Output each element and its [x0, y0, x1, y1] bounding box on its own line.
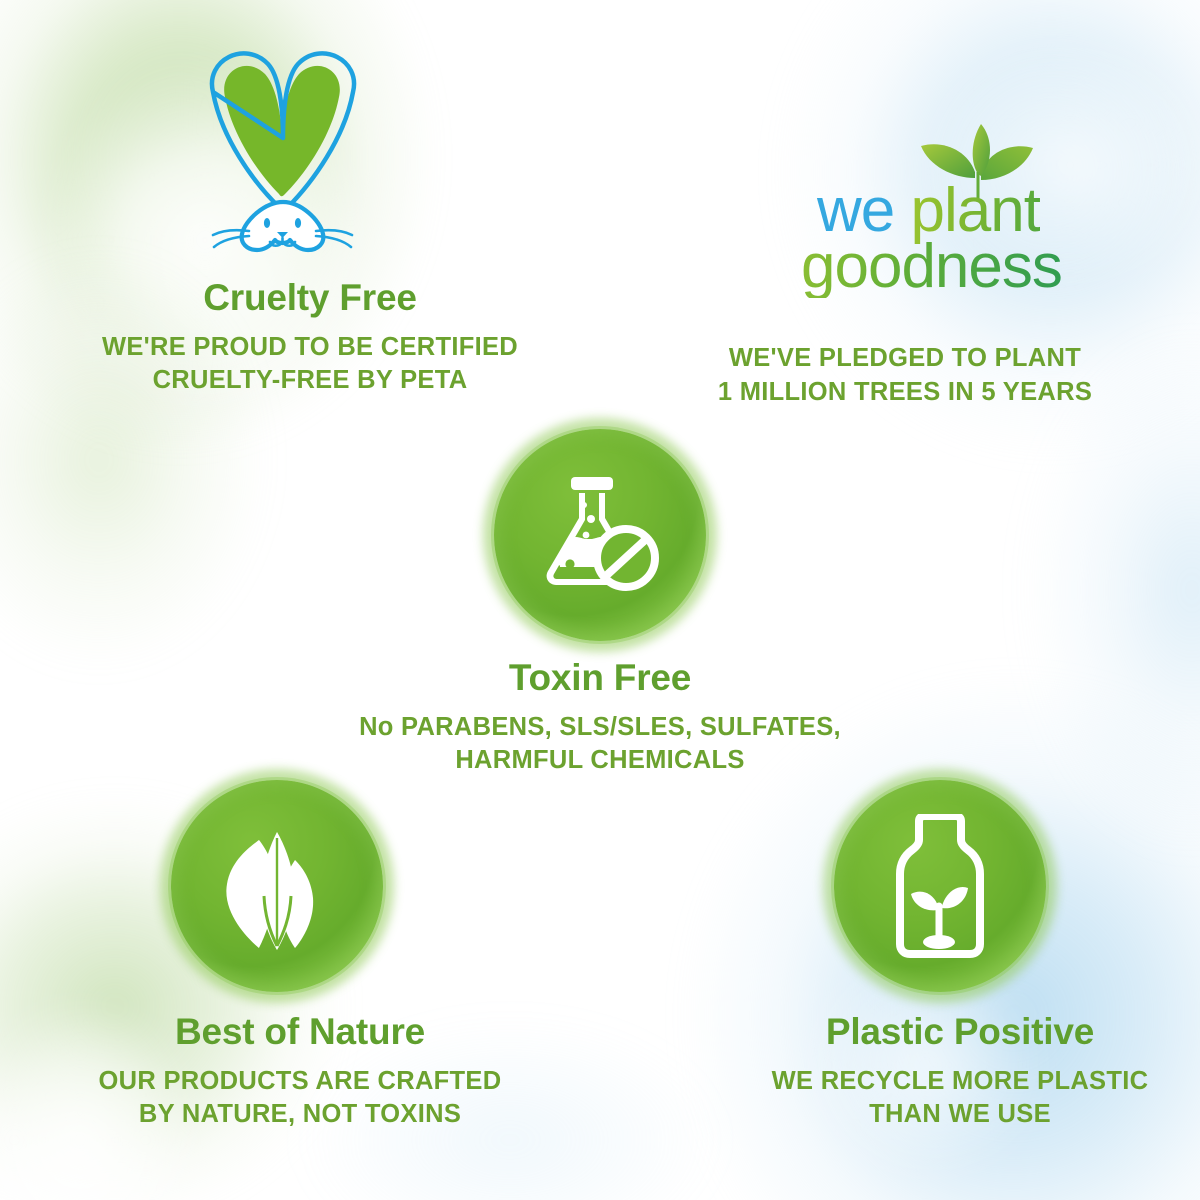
feature-description-line: WE RECYCLE MORE PLASTIC	[680, 1065, 1200, 1099]
plastic-positive-badge	[834, 780, 1046, 992]
feature-we-plant-goodness: WE'VE PLEDGED TO PLANT 1 MILLION TREES I…	[640, 342, 1170, 409]
bottle-sprout-icon	[888, 814, 992, 958]
best-of-nature-badge	[171, 780, 383, 992]
feature-description-line: THAN WE USE	[680, 1098, 1200, 1132]
feature-description-line: WE'VE PLEDGED TO PLANT	[640, 342, 1170, 376]
toxin-free-badge	[494, 429, 706, 641]
leaves-icon	[215, 822, 339, 950]
feature-description-line: 1 MILLION TREES IN 5 YEARS	[640, 376, 1170, 410]
logo-line-2: goodness	[801, 236, 1062, 298]
feature-description-line: WE'RE PROUD TO BE CERTIFIED	[30, 331, 590, 365]
feature-cruelty-free: Cruelty Free WE'RE PROUD TO BE CERTIFIED…	[30, 278, 590, 398]
feature-heading: Plastic Positive	[680, 1012, 1200, 1053]
feature-heading: Best of Nature	[20, 1012, 580, 1053]
feature-heading: Toxin Free	[320, 658, 880, 699]
infographic-canvas: Cruelty Free WE'RE PROUD TO BE CERTIFIED…	[0, 0, 1200, 1200]
feature-description: OUR PRODUCTS ARE CRAFTED BY NATURE, NOT …	[20, 1065, 580, 1132]
feature-description-line: OUR PRODUCTS ARE CRAFTED	[20, 1065, 580, 1099]
feature-description: WE'RE PROUD TO BE CERTIFIED CRUELTY-FREE…	[30, 331, 590, 398]
feature-plastic-positive: Plastic Positive WE RECYCLE MORE PLASTIC…	[680, 1012, 1200, 1132]
flask-no-toxins-icon	[538, 475, 662, 595]
we-plant-goodness-logo: we plant goodness	[805, 128, 1115, 303]
feature-toxin-free: Toxin Free No PARABENS, SLS/SLES, SULFAT…	[320, 658, 880, 778]
feature-description: WE RECYCLE MORE PLASTIC THAN WE USE	[680, 1065, 1200, 1132]
feature-description-line: BY NATURE, NOT TOXINS	[20, 1098, 580, 1132]
feature-heading: Cruelty Free	[30, 278, 590, 319]
feature-description-line: CRUELTY-FREE BY PETA	[30, 364, 590, 398]
bunny-heart-icon	[195, 42, 370, 257]
feature-description-line: HARMFUL CHEMICALS	[320, 744, 880, 778]
feature-description: No PARABENS, SLS/SLES, SULFATES, HARMFUL…	[320, 711, 880, 778]
feature-description: WE'VE PLEDGED TO PLANT 1 MILLION TREES I…	[640, 342, 1170, 409]
feature-description-line: No PARABENS, SLS/SLES, SULFATES,	[320, 711, 880, 745]
feature-best-of-nature: Best of Nature OUR PRODUCTS ARE CRAFTED …	[20, 1012, 580, 1132]
